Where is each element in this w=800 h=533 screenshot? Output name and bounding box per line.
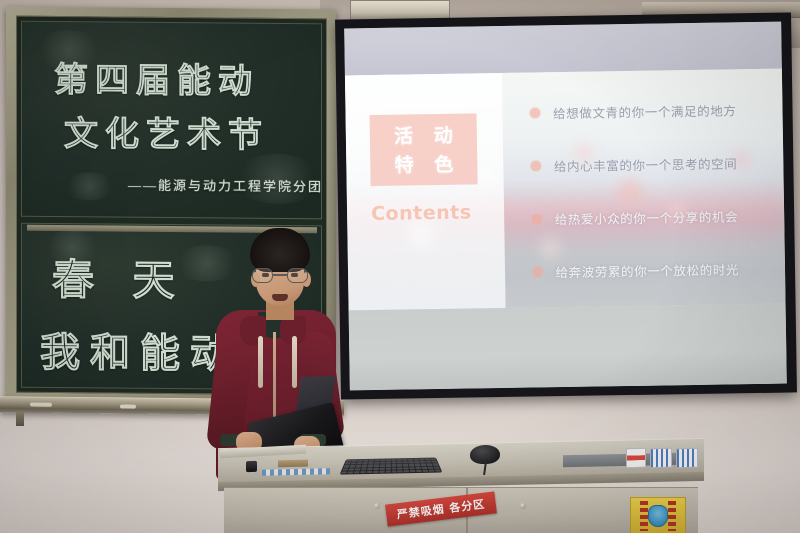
podium-nameplate — [278, 460, 308, 468]
podium-box-blue-2 — [676, 448, 698, 468]
slide-bullet-text: 给奔波劳累的你一个放松的时光 — [555, 259, 739, 281]
slide-bullet-list: 给想做文青的你一个满足的地方 给内心丰富的你一个思考的空间 给热爱小众的你一个分… — [529, 83, 773, 299]
slide-bullet-item: 给热爱小众的你一个分享的机会 — [531, 206, 772, 229]
slide-bullet-item: 给想做文青的你一个满足的地方 — [529, 100, 770, 123]
presenter-drawstring-left — [258, 336, 263, 388]
chalkboard-bottom-line1: 春 天 — [52, 246, 189, 308]
chalkboard-title-line2: 文化艺术节 — [64, 106, 269, 157]
slide-title-line2: 特 色 — [387, 150, 460, 178]
chalkboard-title-line1: 第四届能动 — [54, 52, 259, 103]
presenter-drawstring-right — [292, 336, 297, 388]
glasses-icon — [252, 268, 310, 283]
slide-left-panel — [345, 73, 506, 311]
chalkboard-top-panel: 第四届能动 文化艺术节 ——能源与动力工程学院分团委 — [21, 21, 322, 220]
slide-bullet-item: 给内心丰富的你一个思考的空间 — [530, 153, 771, 176]
presenter-hair — [250, 228, 310, 272]
presenter — [196, 228, 346, 478]
bullet-dot-icon — [529, 108, 540, 119]
presenter-mouth — [272, 294, 288, 301]
chalk-tray-leg-left — [16, 412, 24, 426]
classroom-scene: 第四届能动 文化艺术节 ——能源与动力工程学院分团委 春 天 我和能动 — [0, 0, 800, 533]
slide-bullet-item: 给奔波劳累的你一个放松的时光 — [531, 259, 772, 282]
floor-shadow — [0, 470, 800, 533]
slide-title-line1: 活 动 — [387, 121, 460, 149]
slide-contents-watermark: Contents — [371, 202, 472, 226]
bullet-dot-icon — [531, 266, 542, 277]
screen-bottom-band — [349, 304, 787, 390]
screen-surface: 活 动 特 色 Contents 给想做文青的你一个满足的地方 给内心丰富的你一… — [344, 22, 787, 391]
podium-box-blue-1 — [650, 448, 672, 468]
slide-bullet-text: 给内心丰富的你一个思考的空间 — [554, 153, 738, 175]
screen-top-band — [344, 22, 782, 76]
bullet-dot-icon — [530, 160, 541, 171]
slide-bullet-text: 给想做文青的你一个满足的地方 — [553, 100, 737, 122]
chalkboard-subtitle: ——能源与动力工程学院分团委 — [128, 175, 322, 196]
bullet-dot-icon — [531, 213, 542, 224]
projected-slide: 活 动 特 色 Contents 给想做文青的你一个满足的地方 给内心丰富的你一… — [345, 69, 786, 311]
projection-screen[interactable]: 活 动 特 色 Contents 给想做文青的你一个满足的地方 给内心丰富的你一… — [335, 12, 797, 399]
podium-box-red — [626, 448, 646, 468]
slide-title-box: 活 动 特 色 — [370, 113, 478, 185]
slide-bullet-text: 给热爱小众的你一个分享的机会 — [555, 206, 739, 228]
